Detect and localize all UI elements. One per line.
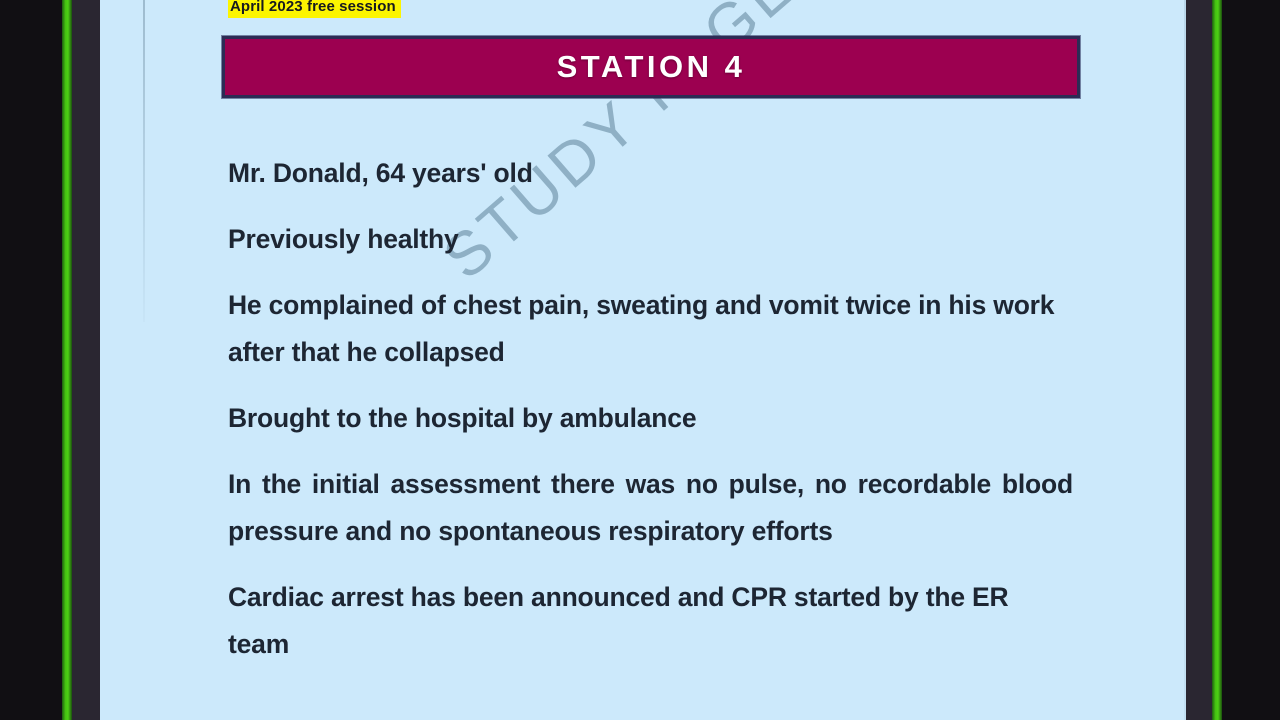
station-banner-title: STATION 4 bbox=[557, 49, 746, 85]
case-description: Mr. Donald, 64 years' old Previously hea… bbox=[228, 150, 1073, 668]
case-line-history: Previously healthy bbox=[228, 216, 1073, 263]
station-banner: STATION 4 bbox=[222, 36, 1080, 98]
video-viewer: STUDY PAGE SIOLOGY April 2023 free sessi… bbox=[0, 0, 1280, 720]
slide-bezel-right bbox=[1186, 0, 1212, 720]
case-line-presentation: He complained of chest pain, sweating an… bbox=[228, 282, 1073, 376]
session-highlight-label: April 2023 free session bbox=[228, 0, 401, 18]
case-line-initial-assessment: In the initial assessment there was no p… bbox=[228, 461, 1073, 555]
letterbox-bar-right bbox=[1222, 0, 1280, 720]
green-accent-rail-right bbox=[1212, 0, 1222, 720]
letterbox-bar-left bbox=[0, 0, 62, 720]
green-accent-rail-left bbox=[62, 0, 72, 720]
case-line-transport: Brought to the hospital by ambulance bbox=[228, 395, 1073, 442]
presentation-slide: STUDY PAGE SIOLOGY April 2023 free sessi… bbox=[100, 0, 1194, 720]
slide-gutter-line-left bbox=[143, 0, 145, 322]
slide-bezel-left bbox=[72, 0, 100, 720]
case-line-patient: Mr. Donald, 64 years' old bbox=[228, 150, 1073, 197]
case-line-cpr: Cardiac arrest has been announced and CP… bbox=[228, 574, 1073, 668]
